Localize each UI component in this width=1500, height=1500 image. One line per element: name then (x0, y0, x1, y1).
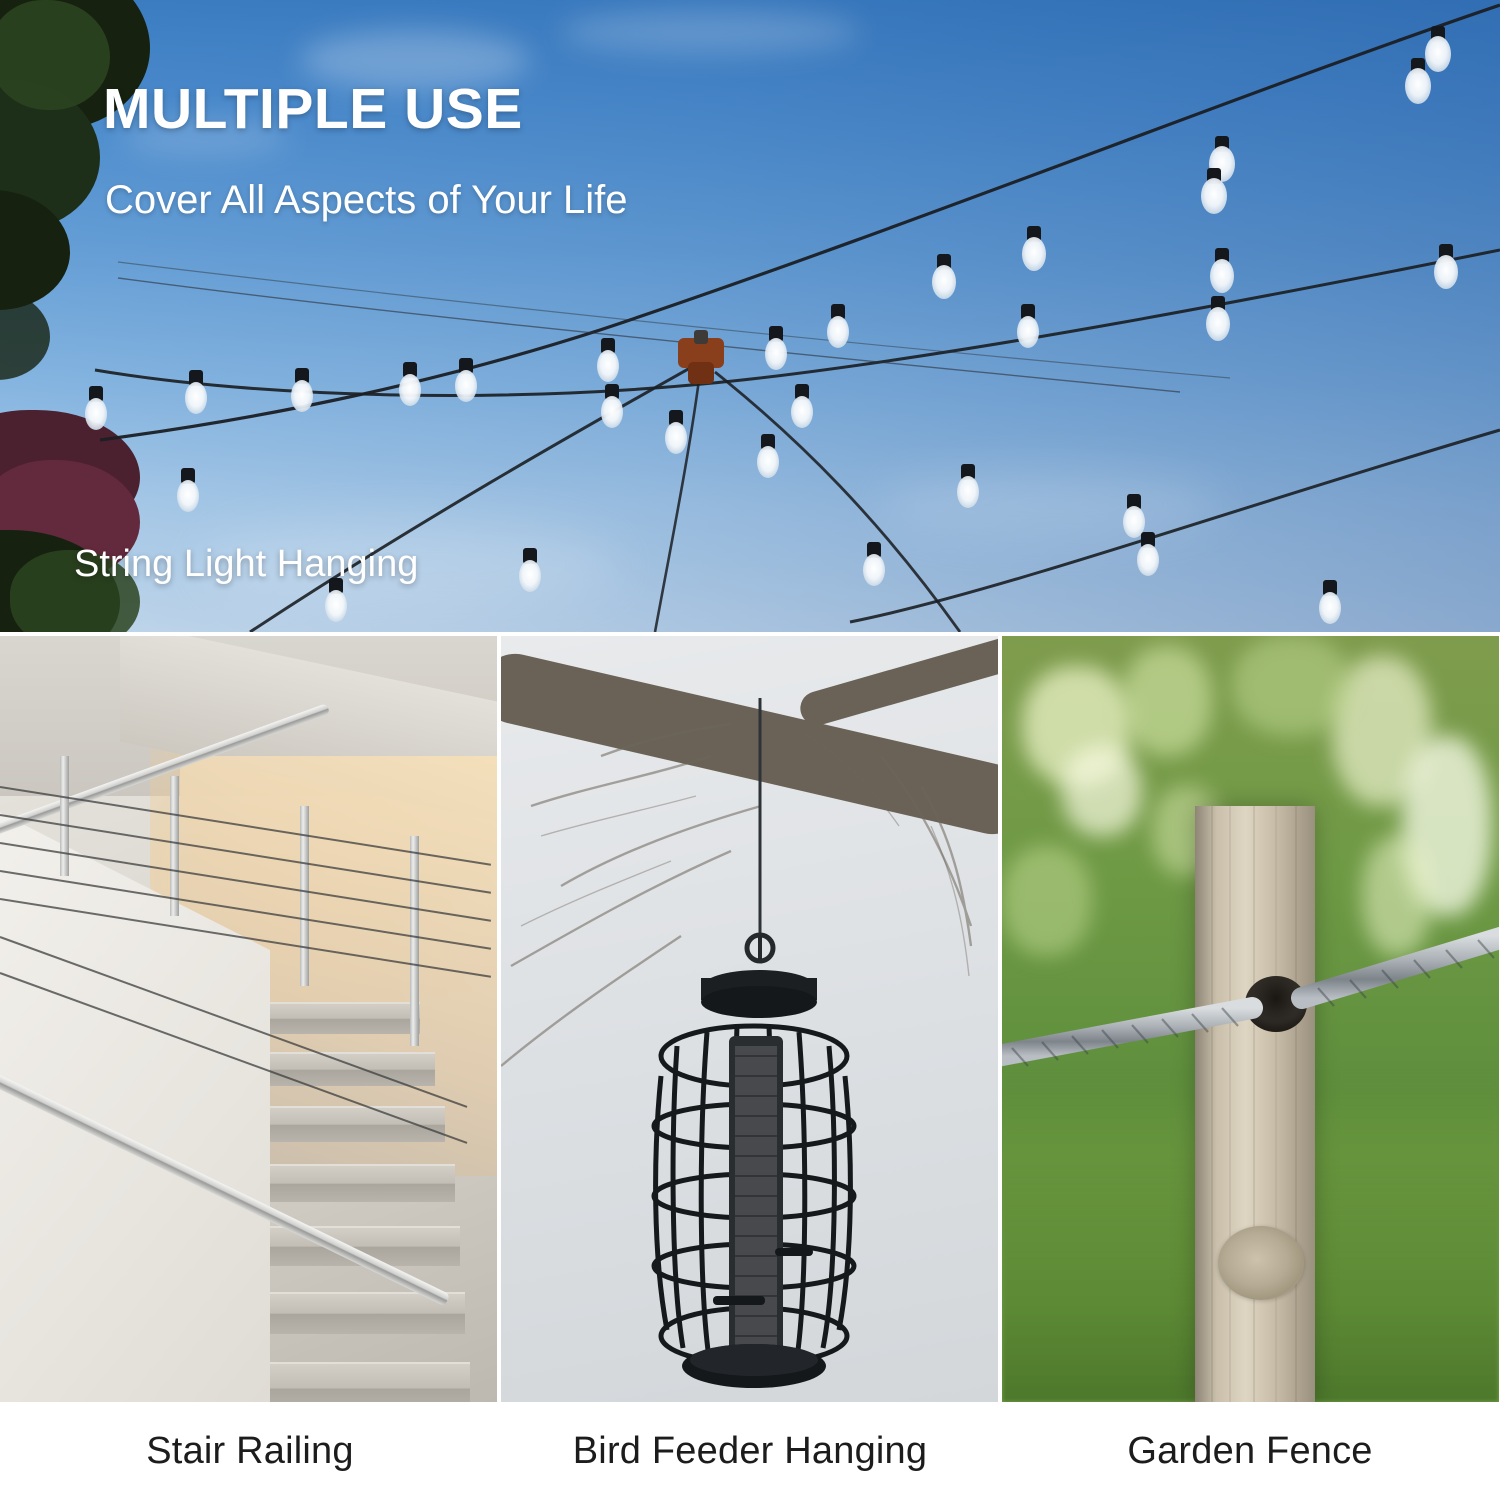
railing-post (60, 756, 69, 876)
caption-row: Stair Railing Bird Feeder Hanging Garden… (0, 1402, 1500, 1500)
caption-stair-railing: Stair Railing (0, 1402, 500, 1500)
bird-feeder-illustration (501, 636, 998, 1402)
railing-post (410, 836, 419, 1046)
hero-caption-string-light-hanging: String Light Hanging (74, 543, 418, 586)
hero-title: MULTIPLE USE (103, 80, 523, 140)
panel-bird-feeder (501, 636, 998, 1402)
panel-stair-railing (0, 636, 497, 1402)
panel-garden-fence (1002, 636, 1499, 1402)
hero-subtitle: Cover All Aspects of Your Life (105, 178, 628, 222)
caption-bird-feeder-hanging: Bird Feeder Hanging (500, 1402, 1000, 1500)
steel-cable-illustration (1002, 636, 1499, 1402)
railing-post (170, 776, 179, 916)
cable-connector (678, 330, 724, 384)
panel-grid (0, 636, 1500, 1402)
hero-image-string-lights: MULTIPLE USE Cover All Aspects of Your L… (0, 0, 1500, 632)
product-feature-collage: MULTIPLE USE Cover All Aspects of Your L… (0, 0, 1500, 1500)
caption-garden-fence: Garden Fence (1000, 1402, 1500, 1500)
